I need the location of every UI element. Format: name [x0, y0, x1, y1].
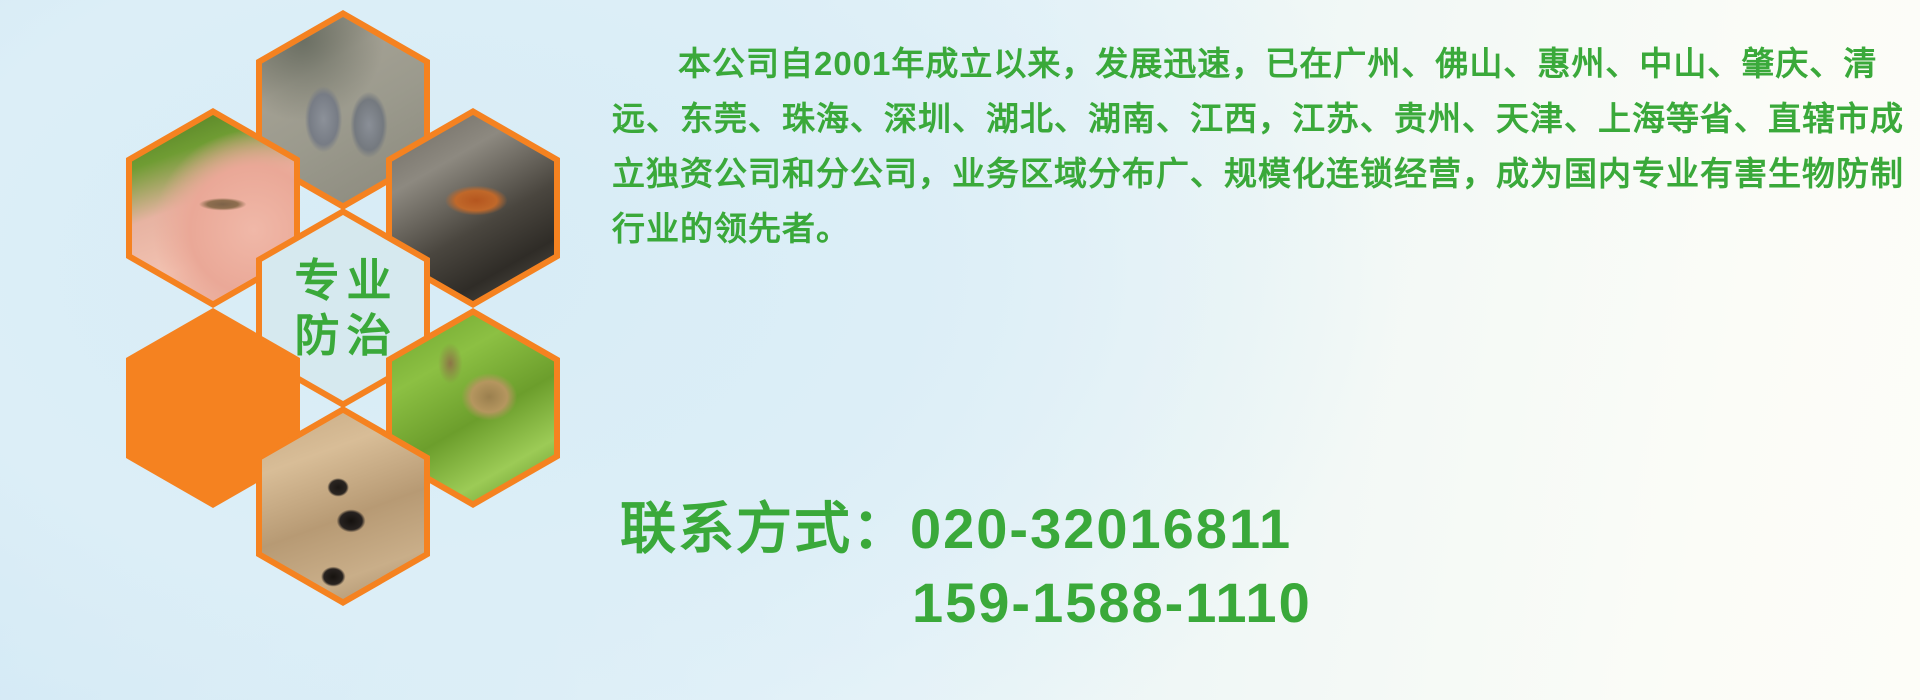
- contact-phone-secondary[interactable]: 159-1588-1110: [620, 566, 1910, 640]
- pest-control-banner: 专业 防治 本公司自2001年成立以来，发展迅速，已在广州、佛山、惠州、中山、肇…: [0, 0, 1920, 700]
- contact-phone-primary[interactable]: 联系方式：020-32016811: [620, 492, 1910, 566]
- company-description: 本公司自2001年成立以来，发展迅速，已在广州、佛山、惠州、中山、肇庆、清远、东…: [612, 36, 1908, 256]
- ant-photo: [262, 413, 424, 599]
- honeycomb-title-line-1: 专业: [287, 257, 398, 304]
- contact-block: 联系方式：020-32016811 159-1588-1110: [620, 492, 1910, 640]
- honeycomb-image-cluster: 专业 防治: [88, 0, 598, 574]
- honeycomb-title-line-2: 防治: [287, 312, 398, 359]
- company-description-text: 本公司自2001年成立以来，发展迅速，已在广州、佛山、惠州、中山、肇庆、清远、东…: [612, 36, 1908, 256]
